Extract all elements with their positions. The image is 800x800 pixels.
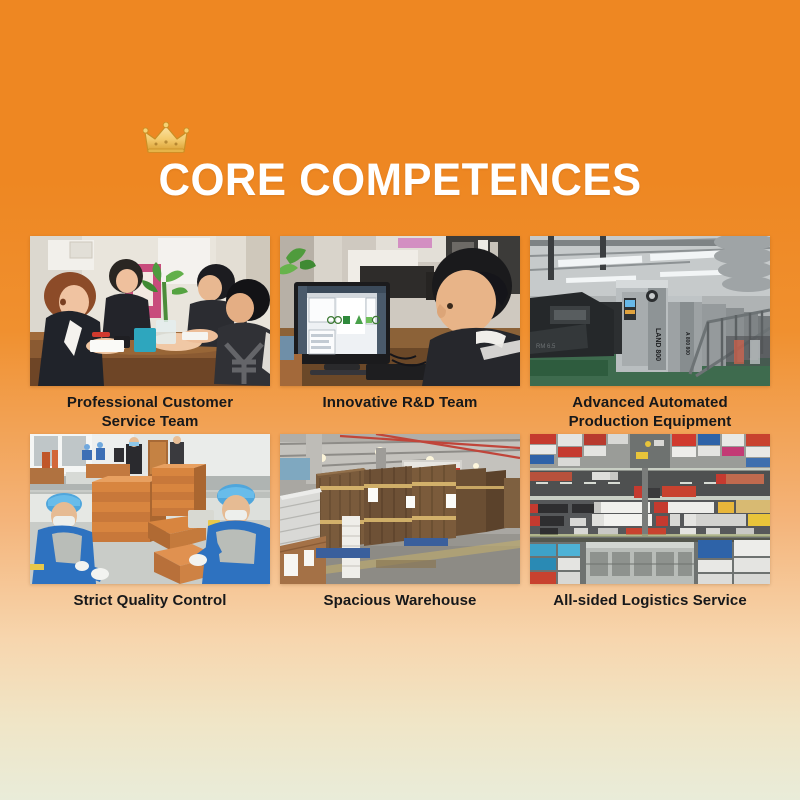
caption-line-2: Service Team bbox=[25, 412, 275, 431]
photo-all-sided-logistics-service[interactable] bbox=[530, 434, 770, 584]
grid-row-top: Professional Customer Service Team bbox=[30, 236, 770, 434]
page-title: CORE COMPETENCES bbox=[158, 152, 641, 208]
card-caption: Innovative R&D Team bbox=[275, 393, 525, 412]
caption-line-1: Advanced Automated bbox=[525, 393, 775, 412]
card-caption: Professional Customer Service Team bbox=[25, 393, 275, 431]
svg-text:A 800 800: A 800 800 bbox=[684, 332, 690, 355]
card-strict-quality-control[interactable]: Strict Quality Control bbox=[30, 434, 270, 632]
card-caption: All-sided Logistics Service bbox=[525, 591, 775, 610]
photo-innovative-rd-team[interactable] bbox=[280, 236, 520, 386]
caption-line-1: All-sided Logistics Service bbox=[525, 591, 775, 610]
competences-grid: Professional Customer Service Team bbox=[30, 236, 770, 632]
page-header: CORE COMPETENCES bbox=[0, 152, 800, 208]
caption-line-1: Professional Customer bbox=[25, 393, 275, 412]
caption-line-1: Strict Quality Control bbox=[25, 591, 275, 610]
svg-text:RM 6.5: RM 6.5 bbox=[536, 344, 556, 350]
photo-advanced-automated-production-equipment[interactable]: LAND 800 A 800 800 bbox=[530, 236, 770, 386]
card-caption: Strict Quality Control bbox=[25, 591, 275, 610]
card-advanced-automated-production-equipment[interactable]: LAND 800 A 800 800 bbox=[530, 236, 770, 434]
caption-line-1: Innovative R&D Team bbox=[275, 393, 525, 412]
grid-row-bottom: Strict Quality Control bbox=[30, 434, 770, 632]
crown-icon bbox=[143, 122, 189, 156]
photo-professional-customer-service-team[interactable] bbox=[30, 236, 270, 386]
card-caption: Spacious Warehouse bbox=[275, 591, 525, 610]
card-all-sided-logistics-service[interactable]: All-sided Logistics Service bbox=[530, 434, 770, 632]
card-innovative-rd-team[interactable]: Innovative R&D Team bbox=[280, 236, 520, 434]
card-caption: Advanced Automated Production Equipment bbox=[525, 393, 775, 431]
card-professional-customer-service-team[interactable]: Professional Customer Service Team bbox=[30, 236, 270, 434]
photo-strict-quality-control[interactable] bbox=[30, 434, 270, 584]
caption-line-1: Spacious Warehouse bbox=[275, 591, 525, 610]
card-spacious-warehouse[interactable]: Spacious Warehouse bbox=[280, 434, 520, 632]
caption-line-2: Production Equipment bbox=[525, 412, 775, 431]
svg-text:LAND 800: LAND 800 bbox=[654, 328, 661, 361]
photo-spacious-warehouse[interactable] bbox=[280, 434, 520, 584]
